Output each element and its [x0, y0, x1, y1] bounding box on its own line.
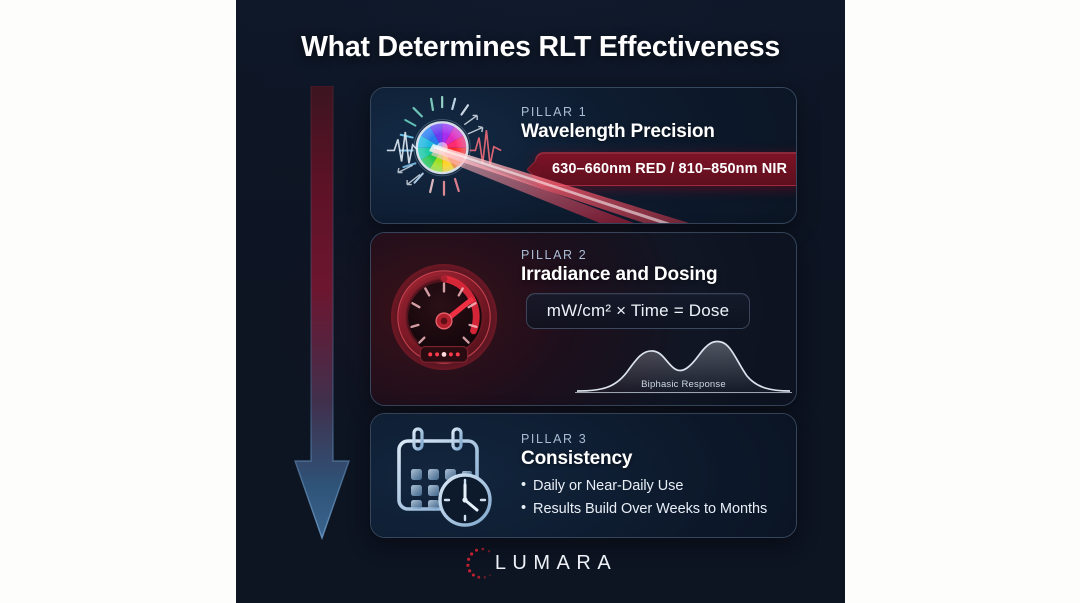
badge-notch [526, 160, 544, 178]
logo-text: LUMARA [501, 552, 617, 575]
pillar-card-3[interactable]: PILLAR 3 Consistency • Daily or Near-Dai… [370, 413, 797, 538]
infographic-canvas: What Determines RLT Effectiveness [236, 0, 845, 603]
page-title: What Determines RLT Effectiveness [236, 31, 845, 64]
bullet-marker: • [521, 478, 526, 493]
pillar-3-title: Consistency [521, 448, 632, 470]
progression-arrow-icon [294, 86, 350, 541]
pillar-2-title: Irradiance and Dosing [521, 264, 717, 286]
dose-formula-text: mW/cm² × Time = Dose [547, 301, 730, 321]
gauge-icon [385, 233, 503, 405]
consistency-bullet-list: • Daily or Near-Daily Use • Results Buil… [521, 478, 767, 524]
pillar-2-label: PILLAR 2 [521, 248, 587, 262]
pillar-card-1[interactable]: PILLAR 1 Wavelength Precision 630–660nm … [370, 87, 797, 224]
dose-formula-box: mW/cm² × Time = Dose [526, 293, 750, 329]
bullet-marker: • [521, 501, 526, 516]
lumara-dot-arc-icon [464, 546, 498, 580]
bullet-text: Results Build Over Weeks to Months [533, 501, 767, 517]
spectrum-laser-icon [385, 88, 503, 223]
wavelength-badge: 630–660nm RED / 810–850nm NIR [535, 152, 797, 186]
wavelength-badge-text: 630–660nm RED / 810–850nm NIR [552, 161, 787, 177]
infographic-page: What Determines RLT Effectiveness [0, 0, 1080, 603]
pillar-3-label: PILLAR 3 [521, 432, 587, 446]
brand-logo: LUMARA [236, 545, 845, 581]
pillar-1-title: Wavelength Precision [521, 121, 715, 143]
pillar-card-2[interactable]: PILLAR 2 Irradiance and Dosing mW/cm² × … [370, 232, 797, 406]
chart-caption: Biphasic Response [571, 379, 796, 390]
calendar-clock-icon [385, 414, 503, 537]
bullet-text: Daily or Near-Daily Use [533, 478, 683, 494]
list-item: • Daily or Near-Daily Use [521, 478, 767, 494]
pillar-1-label: PILLAR 1 [521, 105, 587, 119]
list-item: • Results Build Over Weeks to Months [521, 501, 767, 517]
